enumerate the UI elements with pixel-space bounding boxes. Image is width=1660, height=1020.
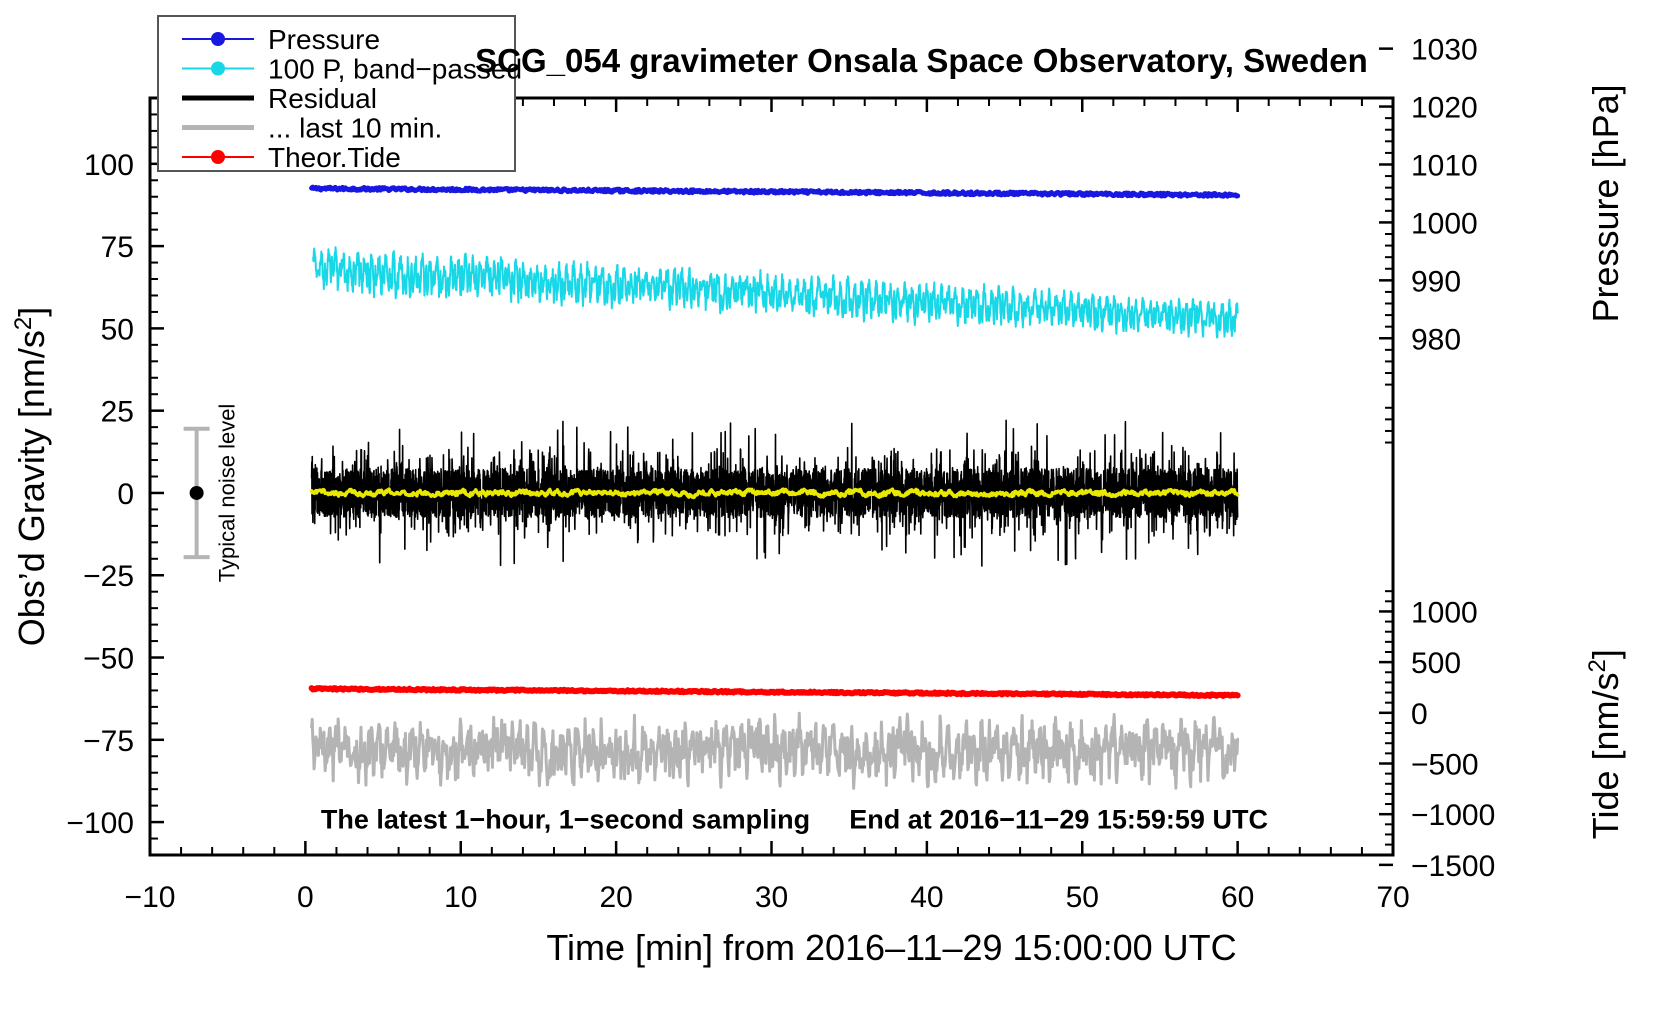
y-tick-label: −75: [83, 725, 134, 758]
x-tick-label: 0: [297, 881, 314, 914]
x-axis-title: Time [min] from 2016‒11‒29 15:00:00 UTC: [546, 927, 1236, 968]
y-tick-label: 25: [101, 396, 134, 429]
legend-entry-label: ... last 10 min.: [268, 113, 442, 144]
data-series-layer: [312, 187, 1238, 788]
pressure-tick-label: 1010: [1411, 149, 1478, 182]
x-tick-label: −10: [125, 881, 176, 914]
series-last10min: [312, 713, 1238, 788]
legend-entry-label: Residual: [268, 83, 377, 114]
y-tick-label: 0: [117, 478, 134, 511]
sampling-note: The latest 1−hour, 1−second sampling: [321, 805, 810, 835]
tide-tick-label: −1500: [1411, 850, 1495, 883]
y-axis-title-tide: Tide [nm/s2]: [1584, 649, 1627, 839]
chart-title: SCG_054 gravimeter Onsala Space Observat…: [475, 42, 1368, 79]
pressure-tick-label: 1020: [1411, 92, 1478, 125]
end-time-note: End at 2016−11−29 15:59:59 UTC: [849, 805, 1268, 835]
x-tick-label: 10: [444, 881, 477, 914]
y-tick-label: −100: [66, 807, 134, 840]
x-tick-label: 40: [910, 881, 943, 914]
legend-marker-dot: [211, 32, 225, 46]
gravimeter-chart-page: −100102030405060701007550250−25−50−75−10…: [0, 0, 1660, 1020]
x-tick-label: 50: [1066, 881, 1099, 914]
x-tick-label: 70: [1376, 881, 1409, 914]
y-tick-label: 100: [84, 149, 134, 182]
legend-marker-dot: [211, 62, 225, 76]
noise-level-dot: [190, 486, 204, 500]
pressure-tick-label: 1000: [1411, 207, 1478, 240]
gravimeter-timeseries-chart: −100102030405060701007550250−25−50−75−10…: [0, 0, 1660, 1020]
noise-level-label: Typical noise level: [215, 404, 240, 583]
y-axis-title-pressure: Pressure [hPa]: [1585, 84, 1626, 322]
tide-tick-label: 0: [1411, 698, 1428, 731]
tide-tick-label: 500: [1411, 647, 1461, 680]
pressure-tick-label: 1030: [1411, 34, 1478, 67]
tide-tick-label: 1000: [1411, 596, 1478, 629]
pressure-tick-label: 980: [1411, 323, 1461, 356]
legend-marker-dot: [211, 150, 225, 164]
chart-legend[interactable]: Pressure100 P, band−passedResidual... la…: [158, 16, 522, 173]
x-tick-label: 60: [1221, 881, 1254, 914]
x-tick-label: 20: [599, 881, 632, 914]
y-axis-title-left: Obs’d Gravity [nm/s2]: [10, 307, 53, 646]
legend-entry-label: Theor.Tide: [268, 142, 401, 173]
y-tick-label: 50: [101, 313, 134, 346]
y-tick-label: −25: [83, 560, 134, 593]
series-pressure: [312, 187, 1238, 196]
x-tick-label: 30: [755, 881, 788, 914]
tide-tick-label: −1000: [1411, 799, 1495, 832]
y-tick-label: 75: [101, 231, 134, 264]
y-tick-label: −50: [83, 643, 134, 676]
series-bandpassed: [313, 247, 1237, 337]
pressure-tick-label: 990: [1411, 265, 1461, 298]
series-theoretical-tide: [312, 688, 1238, 696]
legend-entry-label: Pressure: [268, 24, 380, 55]
tide-tick-label: −500: [1411, 749, 1479, 782]
